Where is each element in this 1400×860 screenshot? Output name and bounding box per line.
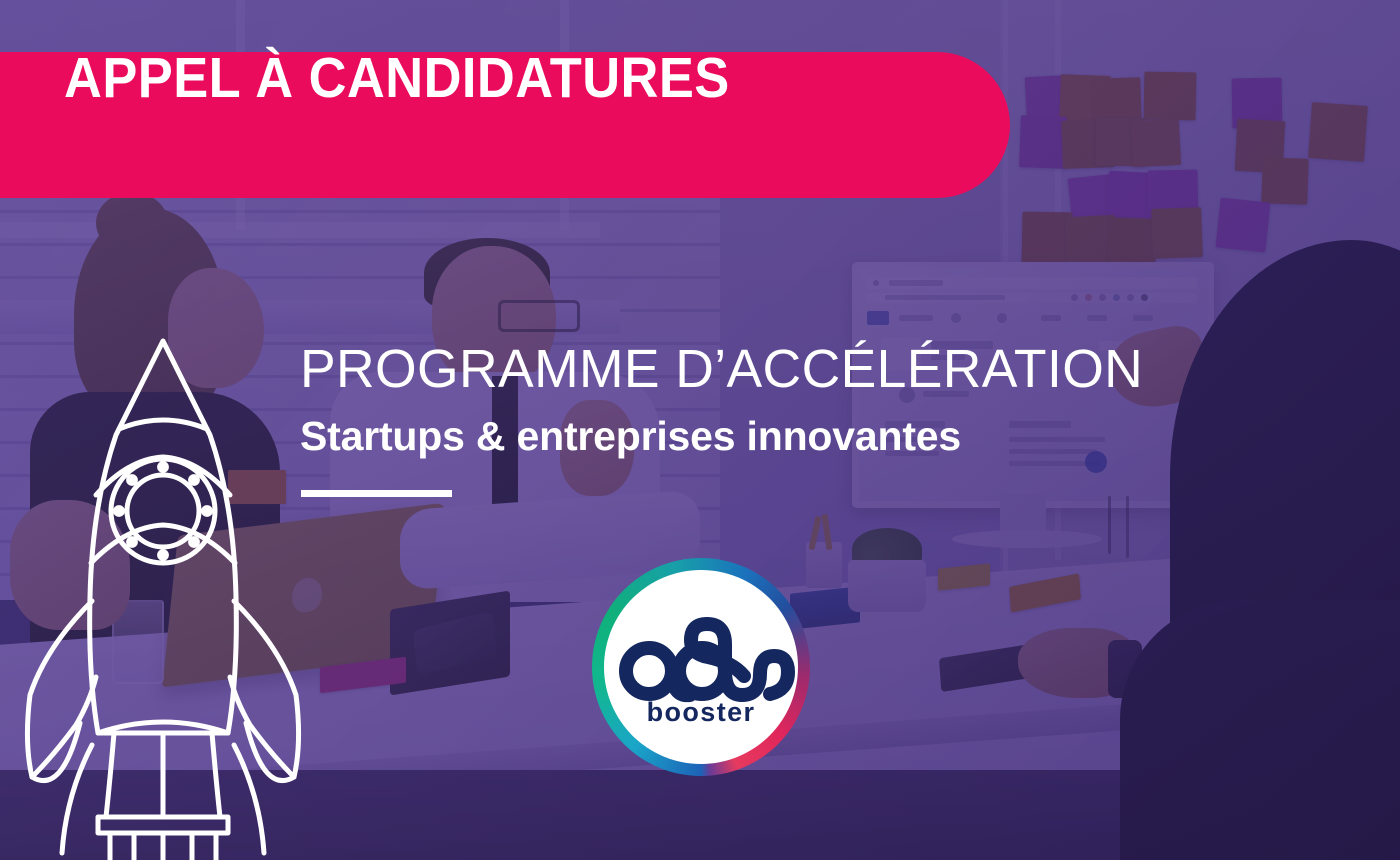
banner-label: APPEL À CANDIDATURES: [64, 50, 730, 107]
page-title: PROGRAMME D’ACCÉLÉRATION: [300, 342, 1143, 397]
logo-tagline: booster: [592, 697, 810, 728]
rocket-icon: [18, 325, 308, 860]
adn-wordmark-icon: [592, 558, 810, 776]
poster-canvas: APPEL À CANDIDATURES PROGRAMME D’ACCÉLÉR…: [0, 0, 1400, 860]
title-divider: [301, 490, 452, 497]
page-subtitle: Startups & entreprises innovantes: [300, 415, 1152, 458]
adn-booster-logo: booster: [592, 558, 810, 776]
headline-block: PROGRAMME D’ACCÉLÉRATION Startups & entr…: [300, 342, 1152, 458]
